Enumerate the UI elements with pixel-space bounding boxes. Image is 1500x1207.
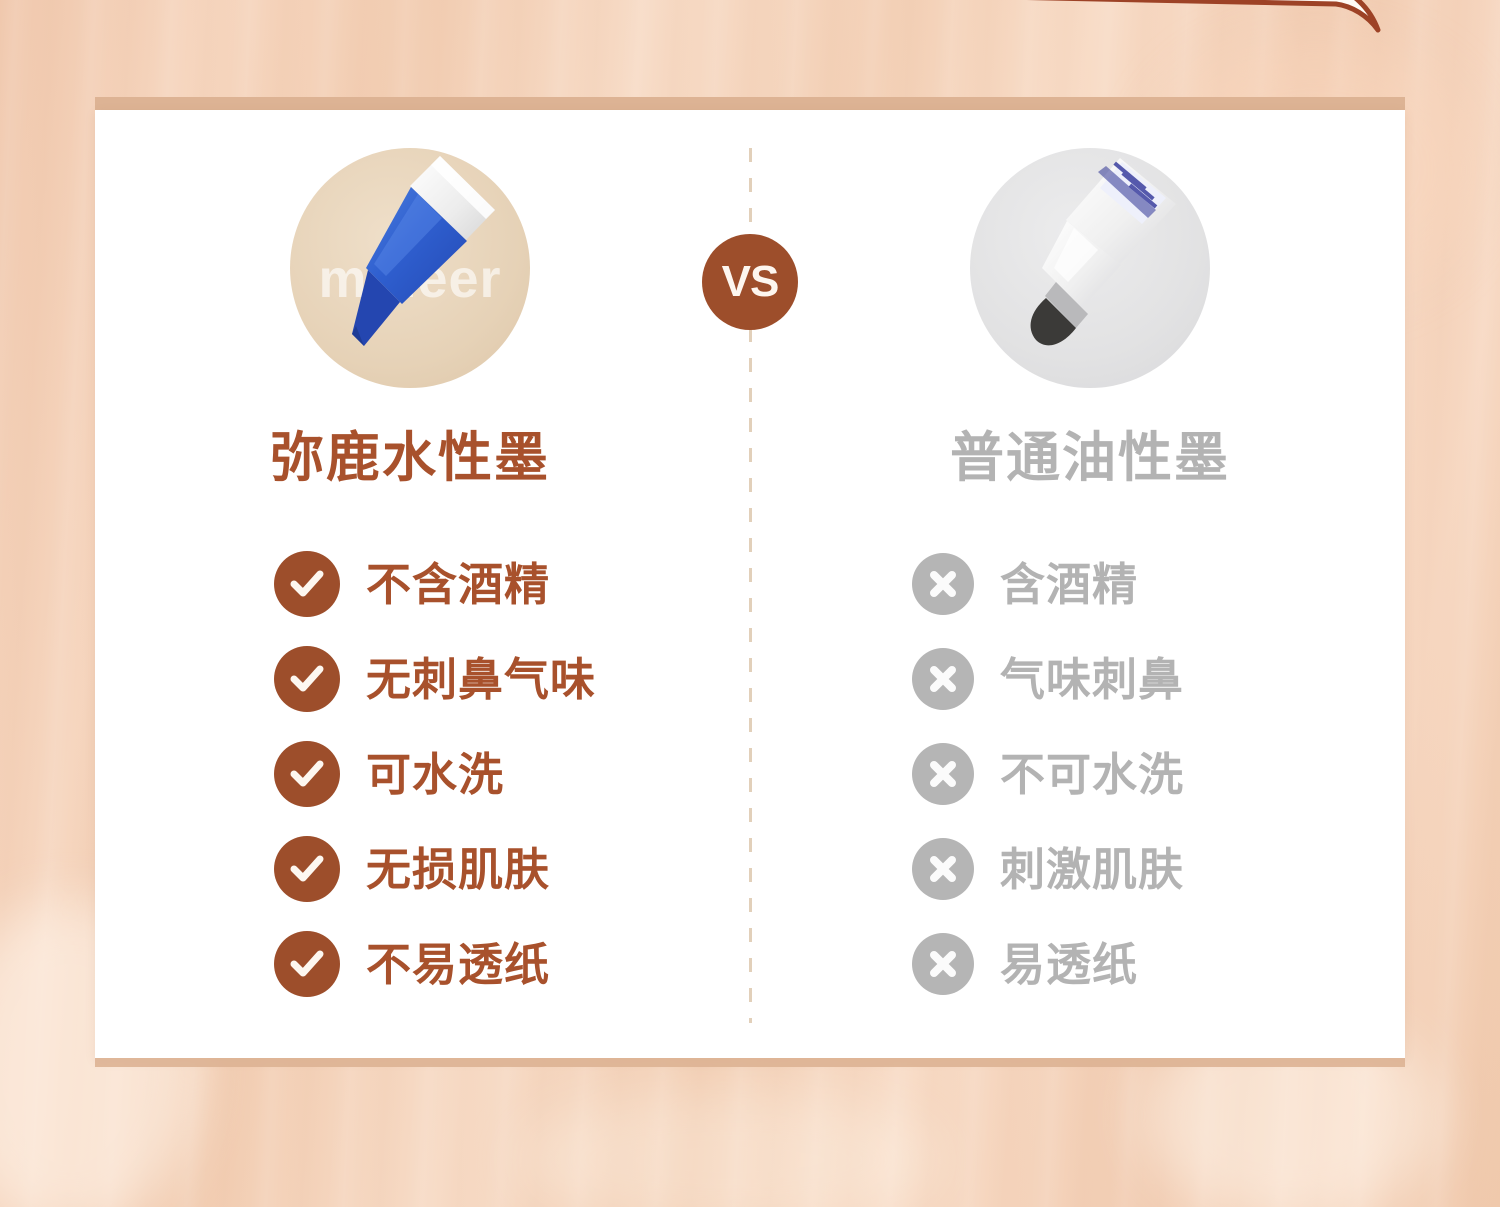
check-icon xyxy=(274,931,340,997)
vs-badge: VS xyxy=(702,234,798,330)
feature-label: 含酒精 xyxy=(1000,562,1138,607)
feature-label: 不含酒精 xyxy=(366,562,550,607)
feature-label: 无损肌肤 xyxy=(366,847,550,892)
feature-label: 无刺鼻气味 xyxy=(366,657,596,702)
product-photo-oil-based xyxy=(970,148,1210,388)
feature-row: 无刺鼻气味 xyxy=(274,632,710,727)
white-marker-pen-icon xyxy=(970,148,1210,388)
check-icon xyxy=(274,551,340,617)
feature-row: 可水洗 xyxy=(274,727,710,822)
feature-row: 刺激肌肤 xyxy=(912,822,1390,917)
card-top-edge xyxy=(95,97,1405,110)
feature-label: 易透纸 xyxy=(1000,942,1138,987)
cross-icon xyxy=(912,743,974,805)
ribbon-decoration-icon xyxy=(900,0,1500,54)
infographic-stage: VS mideer xyxy=(0,0,1500,1207)
cross-icon xyxy=(912,838,974,900)
cross-icon xyxy=(912,648,974,710)
feature-label: 不易透纸 xyxy=(366,942,550,987)
column-title-left: 弥鹿水性墨 xyxy=(110,430,710,487)
feature-label: 气味刺鼻 xyxy=(1000,657,1184,702)
blue-marker-pen-icon xyxy=(290,148,530,388)
cross-icon xyxy=(912,553,974,615)
cross-icon xyxy=(912,933,974,995)
vs-badge-label: VS xyxy=(722,260,779,304)
feature-row: 气味刺鼻 xyxy=(912,632,1390,727)
check-icon xyxy=(274,741,340,807)
feature-list-left: 不含酒精 无刺鼻气味 可水洗 无损肌肤 xyxy=(274,537,710,1012)
card-bottom-edge xyxy=(95,1058,1405,1067)
check-icon xyxy=(274,836,340,902)
feature-list-right: 含酒精 气味刺鼻 不可水洗 刺激肌肤 xyxy=(912,537,1390,1012)
feature-row: 无损肌肤 xyxy=(274,822,710,917)
feature-label: 刺激肌肤 xyxy=(1000,847,1184,892)
comparison-column-right: 普通油性墨 含酒精 气味刺鼻 不可水洗 xyxy=(790,148,1390,1028)
feature-row: 含酒精 xyxy=(912,537,1390,632)
feature-label: 可水洗 xyxy=(366,752,504,797)
feature-label: 不可水洗 xyxy=(1000,752,1184,797)
check-icon xyxy=(274,646,340,712)
feature-row: 不可水洗 xyxy=(912,727,1390,822)
feature-row: 易透纸 xyxy=(912,917,1390,1012)
background-highlight-blob xyxy=(520,1090,940,1207)
column-title-right: 普通油性墨 xyxy=(790,430,1390,487)
product-photo-water-based: mideer xyxy=(290,148,530,388)
feature-row: 不易透纸 xyxy=(274,917,710,1012)
feature-row: 不含酒精 xyxy=(274,537,710,632)
comparison-column-left: mideer xyxy=(110,148,710,1028)
